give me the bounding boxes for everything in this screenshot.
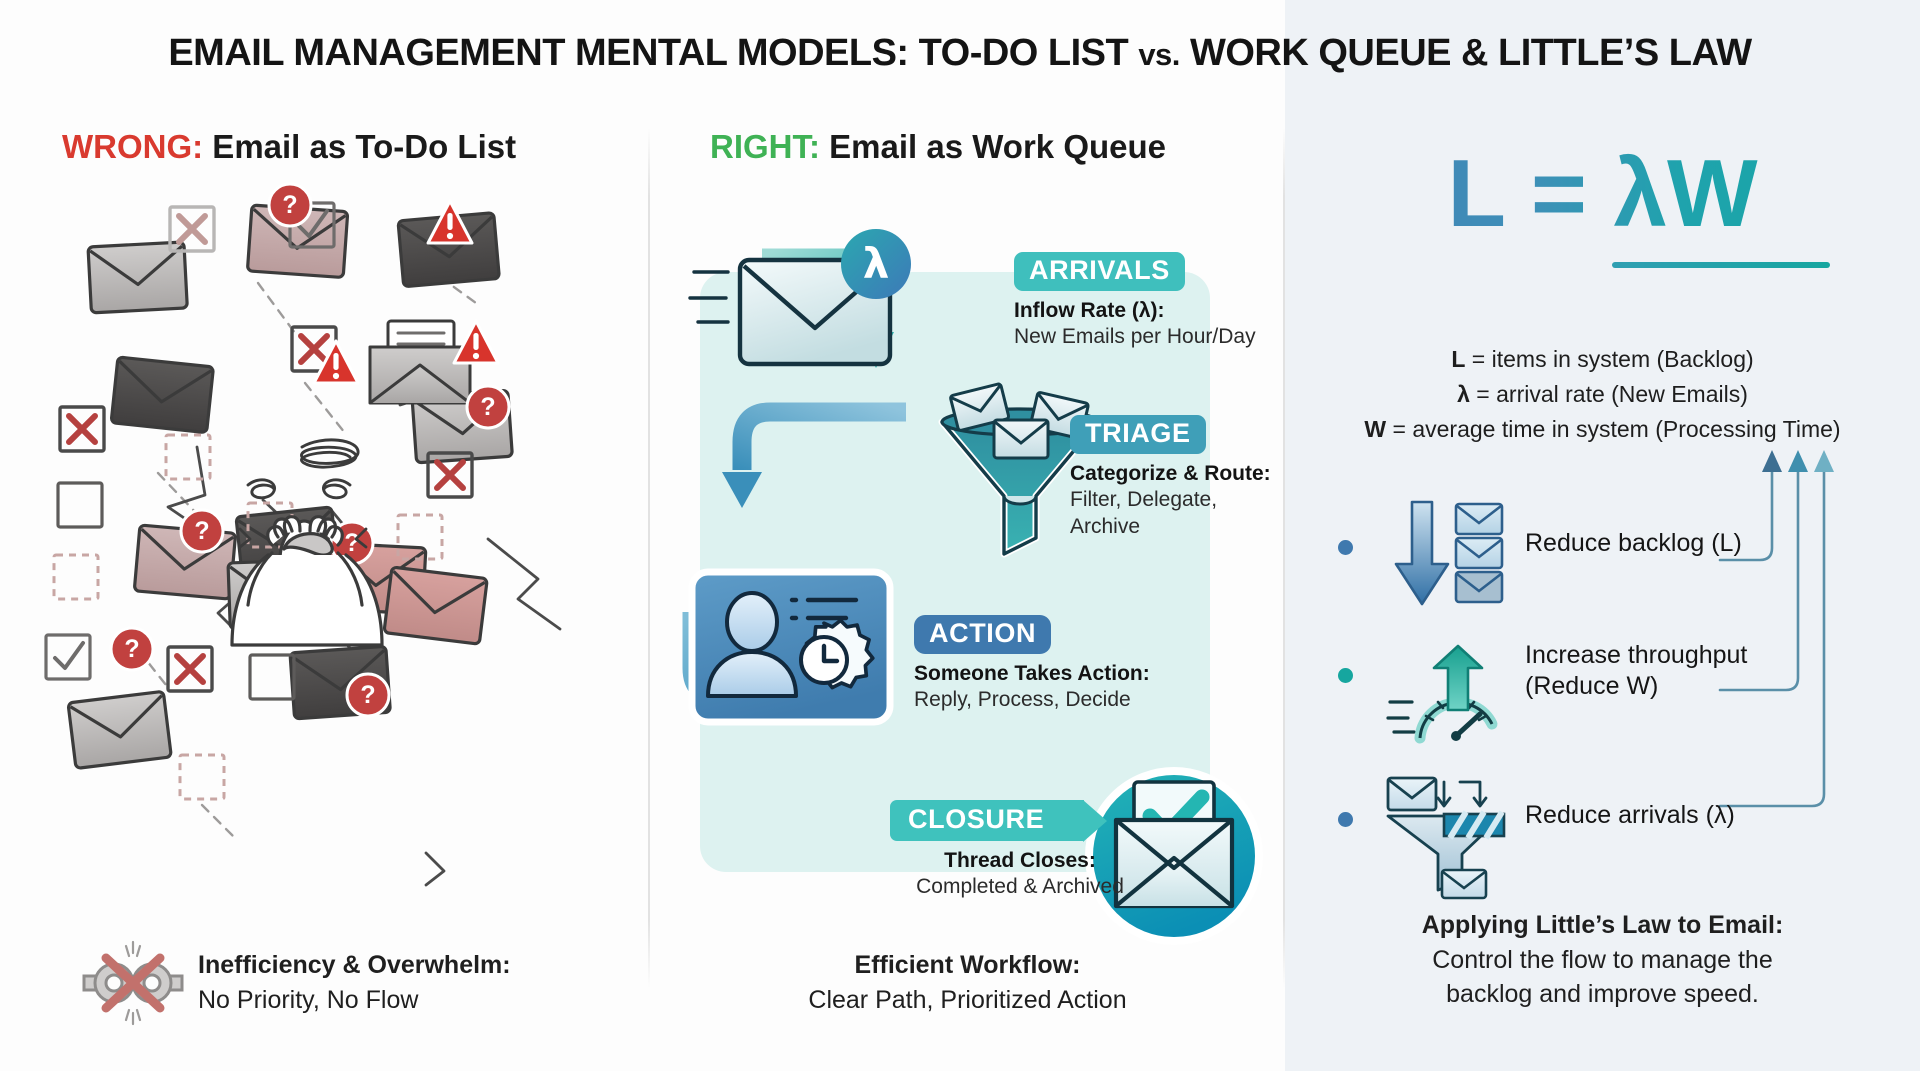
svg-text:λ: λ [863, 239, 890, 288]
bullet-2-line-1: Increase throughput [1525, 640, 1747, 671]
triage-bold: Categorize & Route: [1070, 461, 1271, 487]
heading-wrong-rest: Email as To-Do List [203, 128, 516, 165]
person-gear-clock-icon [688, 568, 894, 734]
formula-equals: = [1504, 140, 1613, 247]
down-arrow-stacked-envelopes-icon [1390, 500, 1510, 610]
arrivals-sub: New Emails per Hour/Day [1014, 324, 1256, 350]
pill-triage: TRIAGE [1070, 415, 1206, 454]
legend-sym-L: L [1451, 346, 1465, 372]
step-closure: CLOSURE Thread Closes: Completed & Archi… [890, 800, 1150, 901]
heading-wrong: WRONG: Email as To-Do List [62, 128, 516, 166]
broken-gear-x-icon [78, 940, 188, 1026]
caption-right-panel-bold: Applying Little’s Law to Email: [1285, 908, 1920, 943]
legend-row-W: W = average time in system (Processing T… [1285, 412, 1920, 447]
bullet-3: Reduce arrivals (λ) [1525, 800, 1735, 831]
triage-sub-1: Filter, Delegate, [1070, 487, 1271, 513]
caption-wrong-bold: Inefficiency & Overwhelm: [198, 948, 511, 983]
formula-L: L [1447, 140, 1504, 247]
caption-littles-law: Applying Little’s Law to Email: Control … [1285, 908, 1920, 1012]
caption-right-panel-line-2: backlog and improve speed. [1285, 977, 1920, 1012]
closure-sub: Completed & Archived [890, 874, 1150, 900]
heading-wrong-keyword: WRONG: [62, 128, 203, 165]
triage-sub-2: Archive [1070, 514, 1271, 540]
heading-right: RIGHT: Email as Work Queue [710, 128, 1166, 166]
bullet-2-line-2: (Reduce W) [1525, 671, 1747, 702]
caption-right-sub: Clear Path, Prioritized Action [650, 983, 1285, 1018]
chaos-scene: ? [40, 185, 630, 905]
bullet-2: Increase throughput (Reduce W) [1525, 640, 1747, 703]
infographic-canvas: EMAIL MANAGEMENT MENTAL MODELS: TO-DO LI… [0, 0, 1920, 1071]
pill-arrivals: ARRIVALS [1014, 252, 1185, 291]
formula-legend: L = items in system (Backlog) λ = arriva… [1285, 342, 1920, 447]
heading-right-keyword: RIGHT: [710, 128, 820, 165]
title-part-2: WORK QUEUE & LITTLE’S LAW [1180, 32, 1752, 74]
legend-row-lambda: λ = arrival rate (New Emails) [1285, 377, 1920, 412]
caption-wrong: Inefficiency & Overwhelm: No Priority, N… [198, 948, 511, 1017]
arrivals-bold: Inflow Rate (λ): [1014, 298, 1256, 324]
bullet-1-line-1: Reduce backlog (L) [1525, 528, 1742, 559]
legend-sym-lambda: λ [1457, 381, 1470, 407]
pill-closure: CLOSURE [890, 800, 1084, 841]
step-arrivals: ARRIVALS Inflow Rate (λ): New Emails per… [1014, 252, 1256, 351]
speedometer-up-arrow-icon [1388, 638, 1518, 748]
action-bold: Someone Takes Action: [914, 661, 1150, 687]
legend-def-L: = items in system (Backlog) [1465, 346, 1753, 372]
littles-law-formula: L = λW [1285, 146, 1920, 242]
caption-right: Efficient Workflow: Clear Path, Prioriti… [650, 948, 1285, 1017]
formula-lambdaW: λW [1614, 140, 1758, 247]
bullet-dot-3 [1338, 812, 1353, 827]
formula-underline [1612, 262, 1830, 268]
closure-bold: Thread Closes: [890, 848, 1150, 874]
caption-right-panel-line-1: Control the flow to manage the [1285, 943, 1920, 978]
pill-action: ACTION [914, 615, 1051, 654]
funnel-filter-envelope-icon [1388, 778, 1518, 898]
step-action: ACTION Someone Takes Action: Reply, Proc… [914, 615, 1150, 714]
heading-right-rest: Email as Work Queue [820, 128, 1166, 165]
caption-right-bold: Efficient Workflow: [650, 948, 1285, 983]
bullet-3-line-1: Reduce arrivals (λ) [1525, 800, 1735, 831]
legend-def-lambda: = arrival rate (New Emails) [1470, 381, 1748, 407]
envelope-lambda-icon: λ [690, 236, 940, 366]
action-sub: Reply, Process, Decide [914, 687, 1150, 713]
title-vs: vs. [1138, 37, 1180, 72]
bullet-1: Reduce backlog (L) [1525, 528, 1742, 559]
bullet-dot-1 [1338, 540, 1353, 555]
step-triage: TRIAGE Categorize & Route: Filter, Deleg… [1070, 415, 1271, 540]
caption-wrong-sub: No Priority, No Flow [198, 983, 511, 1018]
bullet-dot-2 [1338, 668, 1353, 683]
legend-row-L: L = items in system (Backlog) [1285, 342, 1920, 377]
legend-def-W: = average time in system (Processing Tim… [1386, 416, 1840, 442]
legend-sym-W: W [1364, 416, 1386, 442]
title-part-1: EMAIL MANAGEMENT MENTAL MODELS: TO-DO LI… [168, 32, 1138, 74]
page-title: EMAIL MANAGEMENT MENTAL MODELS: TO-DO LI… [0, 32, 1920, 75]
